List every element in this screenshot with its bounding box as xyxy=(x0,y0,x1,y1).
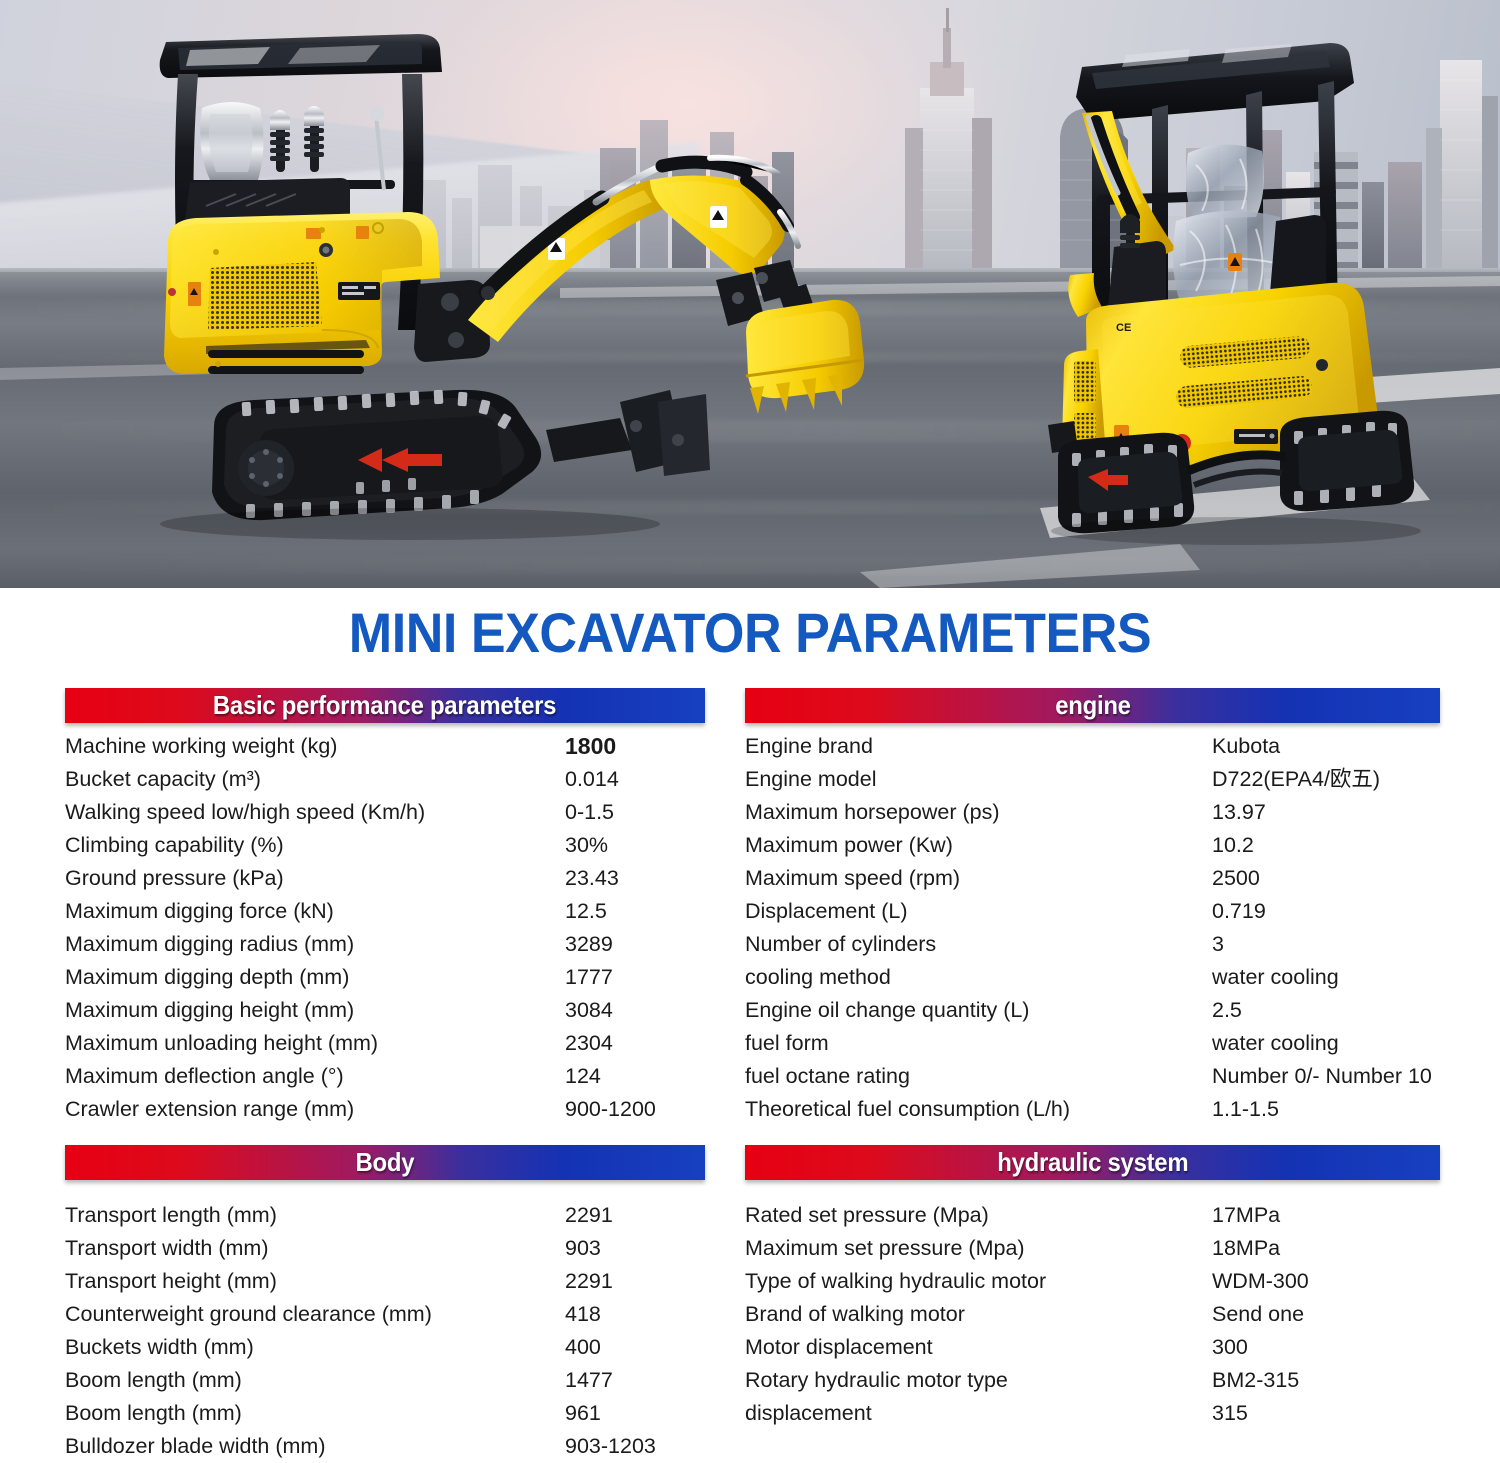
row-value: 23.43 xyxy=(565,862,619,895)
excavator-side-view xyxy=(150,30,870,560)
table-row: Brand of walking motor Send one xyxy=(745,1298,1440,1331)
row-value: 3 xyxy=(1212,928,1224,961)
table-row: Crawler extension range (mm) 900-1200 xyxy=(65,1093,705,1126)
table-header-bar: hydraulic system xyxy=(745,1145,1440,1180)
row-label: Theoretical fuel consumption (L/h) xyxy=(745,1093,1070,1126)
table-row: Transport height (mm) 2291 xyxy=(65,1265,705,1298)
row-label: Brand of walking motor xyxy=(745,1298,965,1331)
row-value: 1777 xyxy=(565,961,613,994)
table-row: Maximum deflection angle (°) 124 xyxy=(65,1060,705,1093)
table-row: Counterweight ground clearance (mm) 418 xyxy=(65,1298,705,1331)
table-row: Maximum digging force (kN) 12.5 xyxy=(65,895,705,928)
table-header-label: Body xyxy=(356,1147,415,1178)
row-value: 315 xyxy=(1212,1397,1248,1430)
row-label: Transport width (mm) xyxy=(65,1232,268,1265)
table-basic-performance-parameters: Basic performance parameters Machine wor… xyxy=(65,688,705,1126)
row-label: Bucket capacity (m³) xyxy=(65,763,261,796)
row-label: Rated set pressure (Mpa) xyxy=(745,1199,989,1232)
svg-text:CE: CE xyxy=(1116,322,1131,334)
table-row: Boom length (mm) 1477 xyxy=(65,1364,705,1397)
table-row: fuel octane rating Number 0/- Number 10 xyxy=(745,1060,1440,1093)
row-value: 300 xyxy=(1212,1331,1248,1364)
row-value: 30% xyxy=(565,829,608,862)
table-row: fuel form water cooling xyxy=(745,1027,1440,1060)
row-value: 18MPa xyxy=(1212,1232,1280,1265)
row-value: 12.5 xyxy=(565,895,607,928)
row-value: 900-1200 xyxy=(565,1093,656,1126)
table-rows: Rated set pressure (Mpa) 17MPa Maximum s… xyxy=(745,1180,1440,1430)
row-value: 17MPa xyxy=(1212,1199,1280,1232)
table-row: Maximum power (Kw) 10.2 xyxy=(745,829,1440,862)
row-label: Engine model xyxy=(745,763,876,796)
table-header-label: hydraulic system xyxy=(997,1147,1188,1178)
table-engine: engine Engine brand Kubota Engine model … xyxy=(745,688,1440,1126)
row-value: 2291 xyxy=(565,1199,613,1232)
row-label: Type of walking hydraulic motor xyxy=(745,1265,1046,1298)
row-label: Transport length (mm) xyxy=(65,1199,277,1232)
row-label: Ground pressure (kPa) xyxy=(65,862,284,895)
table-row: Climbing capability (%) 30% xyxy=(65,829,705,862)
row-value: 903 xyxy=(565,1232,601,1265)
table-header-bar: Body xyxy=(65,1145,705,1180)
table-row: cooling method water cooling xyxy=(745,961,1440,994)
row-label: Boom length (mm) xyxy=(65,1397,242,1430)
row-value: 10.2 xyxy=(1212,829,1254,862)
row-label: Maximum digging force (kN) xyxy=(65,895,334,928)
row-label: Walking speed low/high speed (Km/h) xyxy=(65,796,425,829)
row-value: 1800 xyxy=(565,730,616,763)
table-row: Machine working weight (kg) 1800 xyxy=(65,730,705,763)
row-label: fuel octane rating xyxy=(745,1060,910,1093)
table-row: Maximum speed (rpm) 2500 xyxy=(745,862,1440,895)
table-row: Boom length (mm) 961 xyxy=(65,1397,705,1430)
table-body: Body Transport length (mm) 2291 Transpor… xyxy=(65,1145,705,1463)
table-row: Displacement (L) 0.719 xyxy=(745,895,1440,928)
page-title: MINI EXCAVATOR PARAMETERS xyxy=(53,600,1448,665)
row-label: Maximum speed (rpm) xyxy=(745,862,960,895)
table-row: Buckets width (mm) 400 xyxy=(65,1331,705,1364)
table-row: Bulldozer blade width (mm) 903-1203 xyxy=(65,1430,705,1463)
table-row: Motor displacement 300 xyxy=(745,1331,1440,1364)
row-value: 13.97 xyxy=(1212,796,1266,829)
row-label: Bulldozer blade width (mm) xyxy=(65,1430,326,1463)
row-value: 3289 xyxy=(565,928,613,961)
table-header-bar: engine xyxy=(745,688,1440,723)
row-value: water cooling xyxy=(1212,1027,1339,1060)
row-label: displacement xyxy=(745,1397,872,1430)
table-row: Engine model D722(EPA4/欧五) xyxy=(745,763,1440,796)
table-row: Maximum digging height (mm) 3084 xyxy=(65,994,705,1027)
row-value: 1477 xyxy=(565,1364,613,1397)
row-label: Counterweight ground clearance (mm) xyxy=(65,1298,432,1331)
row-label: Displacement (L) xyxy=(745,895,908,928)
row-label: Maximum deflection angle (°) xyxy=(65,1060,344,1093)
row-value: 3084 xyxy=(565,994,613,1027)
table-row: Rated set pressure (Mpa) 17MPa xyxy=(745,1199,1440,1232)
row-value: Number 0/- Number 10 xyxy=(1212,1060,1432,1093)
row-label: Maximum unloading height (mm) xyxy=(65,1027,378,1060)
table-row: Rotary hydraulic motor type BM2-315 xyxy=(745,1364,1440,1397)
row-label: Maximum digging depth (mm) xyxy=(65,961,349,994)
table-row: Bucket capacity (m³) 0.014 xyxy=(65,763,705,796)
row-label: Transport height (mm) xyxy=(65,1265,277,1298)
table-row: Number of cylinders 3 xyxy=(745,928,1440,961)
row-value: water cooling xyxy=(1212,961,1339,994)
row-value: 2500 xyxy=(1212,862,1260,895)
row-label: fuel form xyxy=(745,1027,829,1060)
table-row: Ground pressure (kPa) 23.43 xyxy=(65,862,705,895)
table-rows: Machine working weight (kg) 1800 Bucket … xyxy=(65,723,705,1126)
row-label: Engine oil change quantity (L) xyxy=(745,994,1029,1027)
product-hero-image: CE xyxy=(0,0,1500,588)
row-value: BM2-315 xyxy=(1212,1364,1299,1397)
row-label: Maximum power (Kw) xyxy=(745,829,953,862)
row-value: 0.014 xyxy=(565,763,619,796)
table-row: Theoretical fuel consumption (L/h) 1.1-1… xyxy=(745,1093,1440,1126)
row-label: Rotary hydraulic motor type xyxy=(745,1364,1008,1397)
excavator-rear-view: CE xyxy=(1030,25,1430,545)
row-label: Maximum digging radius (mm) xyxy=(65,928,354,961)
row-label: Maximum horsepower (ps) xyxy=(745,796,999,829)
table-row: Maximum set pressure (Mpa) 18MPa xyxy=(745,1232,1440,1265)
row-label: Engine brand xyxy=(745,730,873,763)
row-label: Maximum digging height (mm) xyxy=(65,994,354,1027)
row-value: 0-1.5 xyxy=(565,796,614,829)
row-label: cooling method xyxy=(745,961,891,994)
table-row: Maximum digging radius (mm) 3289 xyxy=(65,928,705,961)
spec-sheet: MINI EXCAVATOR PARAMETERS Basic performa… xyxy=(0,588,1500,1458)
table-row: Engine oil change quantity (L) 2.5 xyxy=(745,994,1440,1027)
row-label: Climbing capability (%) xyxy=(65,829,284,862)
row-label: Crawler extension range (mm) xyxy=(65,1093,354,1126)
table-header-label: Basic performance parameters xyxy=(213,690,556,721)
table-header-label: engine xyxy=(1055,690,1130,721)
row-value: 400 xyxy=(565,1331,601,1364)
row-label: Machine working weight (kg) xyxy=(65,730,337,763)
row-value: 903-1203 xyxy=(565,1430,656,1463)
row-value: 124 xyxy=(565,1060,601,1093)
row-value: Kubota xyxy=(1212,730,1280,763)
row-value: 961 xyxy=(565,1397,601,1430)
row-label: Buckets width (mm) xyxy=(65,1331,254,1364)
row-value: D722(EPA4/欧五) xyxy=(1212,763,1380,796)
row-value: 2291 xyxy=(565,1265,613,1298)
table-row: Maximum horsepower (ps) 13.97 xyxy=(745,796,1440,829)
row-value: 2.5 xyxy=(1212,994,1242,1027)
table-row: Transport length (mm) 2291 xyxy=(65,1199,705,1232)
row-value: 1.1-1.5 xyxy=(1212,1093,1279,1126)
table-row: Engine brand Kubota xyxy=(745,730,1440,763)
row-label: Maximum set pressure (Mpa) xyxy=(745,1232,1025,1265)
table-rows: Transport length (mm) 2291 Transport wid… xyxy=(65,1180,705,1463)
row-label: Boom length (mm) xyxy=(65,1364,242,1397)
row-value: 418 xyxy=(565,1298,601,1331)
table-hydraulic-system: hydraulic system Rated set pressure (Mpa… xyxy=(745,1145,1440,1430)
table-row: Walking speed low/high speed (Km/h) 0-1.… xyxy=(65,796,705,829)
row-value: 0.719 xyxy=(1212,895,1266,928)
row-value: 2304 xyxy=(565,1027,613,1060)
table-row: Maximum digging depth (mm) 1777 xyxy=(65,961,705,994)
row-value: Send one xyxy=(1212,1298,1304,1331)
row-value: WDM-300 xyxy=(1212,1265,1309,1298)
row-label: Number of cylinders xyxy=(745,928,936,961)
row-label: Motor displacement xyxy=(745,1331,933,1364)
table-row: Type of walking hydraulic motor WDM-300 xyxy=(745,1265,1440,1298)
table-row: Transport width (mm) 903 xyxy=(65,1232,705,1265)
table-row: displacement 315 xyxy=(745,1397,1440,1430)
table-row: Maximum unloading height (mm) 2304 xyxy=(65,1027,705,1060)
table-rows: Engine brand Kubota Engine model D722(EP… xyxy=(745,723,1440,1126)
table-header-bar: Basic performance parameters xyxy=(65,688,705,723)
